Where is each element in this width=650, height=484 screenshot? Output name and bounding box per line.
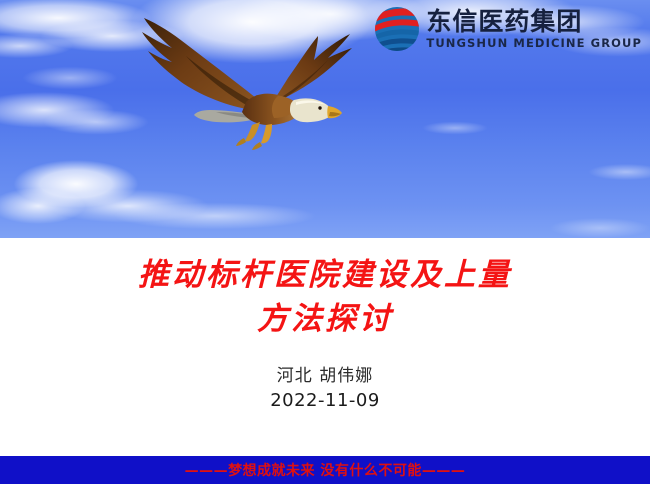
eagle-talon-right bbox=[252, 142, 262, 150]
eagle-right-wing bbox=[274, 34, 352, 102]
company-logo: 东信医药集团 TUNGSHUN MEDICINE GROUP bbox=[374, 6, 642, 52]
title-line-2: 方法探讨 bbox=[0, 297, 650, 341]
logo-chinese-name: 东信医药集团 bbox=[426, 9, 642, 34]
slide-footer-bar: ———梦想成就未来 没有什么不可能——— bbox=[0, 456, 650, 484]
slide-content-area: 推动标杆医院建设及上量 方法探讨 河北 胡伟娜 2022-11-09 bbox=[0, 238, 650, 456]
logo-wordmark: 东信医药集团 TUNGSHUN MEDICINE GROUP bbox=[426, 9, 642, 50]
eagle-beak bbox=[327, 106, 342, 118]
slide-title: 推动标杆医院建设及上量 方法探讨 bbox=[0, 253, 650, 341]
title-line-1: 推动标杆医院建设及上量 bbox=[0, 253, 650, 297]
presentation-date: 2022-11-09 bbox=[0, 388, 650, 413]
tungshun-emblem-icon bbox=[374, 6, 420, 52]
presenter-name: 河北 胡伟娜 bbox=[0, 364, 650, 388]
footer-slogan: ———梦想成就未来 没有什么不可能——— bbox=[185, 460, 466, 480]
eagle-eye bbox=[318, 106, 321, 109]
slide-byline: 河北 胡伟娜 2022-11-09 bbox=[0, 364, 650, 413]
presentation-slide: 东信医药集团 TUNGSHUN MEDICINE GROUP 推动标杆医院建设及… bbox=[0, 0, 650, 484]
eagle-illustration bbox=[128, 0, 368, 163]
eagle-talon-left bbox=[236, 138, 246, 146]
eagle-leg-right bbox=[261, 124, 272, 143]
logo-english-name: TUNGSHUN MEDICINE GROUP bbox=[426, 38, 642, 50]
sky-banner-image: 东信医药集团 TUNGSHUN MEDICINE GROUP bbox=[0, 0, 650, 238]
eagle-leg-left bbox=[245, 122, 260, 141]
